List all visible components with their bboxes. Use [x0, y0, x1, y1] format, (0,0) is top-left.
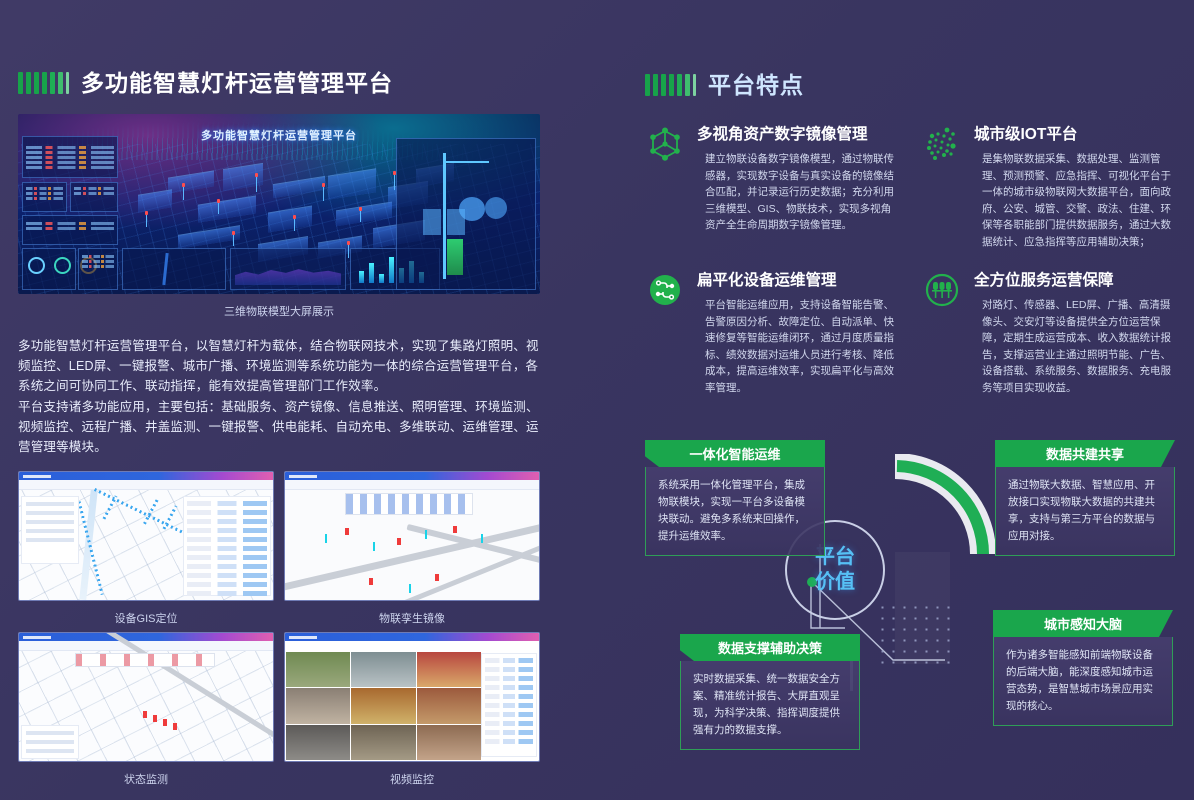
alarm-pin	[453, 526, 457, 533]
video-tile[interactable]	[286, 725, 350, 760]
hero-caption: 三维物联模型大屏展示	[18, 303, 540, 319]
app-subbar	[19, 480, 273, 490]
bars-decor-icon	[18, 68, 69, 94]
status-monitor-screenshot[interactable]	[18, 632, 274, 762]
app-subbar	[19, 641, 273, 651]
app-header-bar	[19, 633, 273, 641]
screenshot-row-top: 设备GIS定位	[18, 471, 540, 626]
feature-text: 建立物联设备数字镜像模型，通过物联传感器，实现数字设备与真实设备的镜像结合匹配，…	[705, 151, 900, 234]
value-card-text: 通过物联大数据、智慧应用、开放接口实现物联大数据的共建共享，支持与第三方平台的数…	[995, 467, 1175, 556]
video-tile[interactable]	[351, 725, 415, 760]
screenshot-item: 设备GIS定位	[18, 471, 274, 626]
pole-led-screen	[447, 209, 465, 235]
device-table[interactable]	[183, 496, 271, 596]
feature-text-wrap: 平台智能运维应用，支持设备智能告警、告警原因分析、故障定位、自动派单、快速修复等…	[697, 297, 900, 396]
value-card-title: 数据共建共享	[995, 440, 1175, 467]
right-column: 平台特点	[645, 66, 1177, 396]
app-header-bar	[285, 633, 539, 641]
lamp-pole-marker	[233, 234, 234, 246]
feature-body: 扁平化设备运维管理 平台智能运维应用，支持设备智能告警、告警原因分析、故障定位、…	[695, 268, 900, 396]
screenshot-caption: 视频监控	[284, 771, 540, 787]
alarm-pin	[345, 528, 349, 535]
camera-list-table[interactable]	[481, 653, 537, 757]
hero-kpi-rows	[26, 146, 114, 171]
value-card-decision-support[interactable]: 数据支撑辅助决策 实时数据采集、统一数据安全方案、精准统计报告、大屏直观呈现，为…	[680, 634, 860, 750]
value-card-title: 一体化智能运维	[645, 440, 825, 467]
status-filter-toolbar[interactable]	[75, 653, 215, 667]
value-card-title: 城市感知大脑	[993, 610, 1173, 637]
screenshot-item: 物联孪生镜像	[284, 471, 540, 626]
feature-item-flat-ops: 扁平化设备运维管理 平台智能运维应用，支持设备智能告警、告警原因分析、故障定位、…	[645, 268, 900, 396]
hero-minimap-route	[162, 253, 168, 285]
device-pin	[325, 534, 327, 543]
lamp-pole-marker	[183, 186, 184, 200]
hero-status-panel	[70, 182, 118, 212]
status-legend-panel	[21, 725, 79, 759]
video-tile[interactable]	[286, 652, 350, 687]
alarm-pin	[163, 719, 167, 726]
platform-value-diagram: 平台 价值 一体化智能运维 系统采用一体化管理平台，集成物联模块，实现一平台多设…	[645, 432, 1185, 792]
value-card-text: 作为诸多智能感知前端物联设备的后端大脑，能深度感知城市运营态势，是智慧城市场景应…	[993, 637, 1173, 726]
poster-page: 多功能智慧灯杆运营管理平台	[0, 0, 1194, 800]
hero-image-title: 多功能智慧灯杆运营管理平台	[201, 127, 357, 143]
left-section-header: 多功能智慧灯杆运营管理平台	[18, 64, 540, 98]
right-section-header: 平台特点	[645, 66, 1177, 100]
hero-area-chart	[230, 248, 346, 290]
feature-text: 平台智能运维应用，支持设备智能告警、告警原因分析、故障定位、自动派单、快速修复等…	[705, 297, 900, 396]
screenshot-caption: 状态监测	[18, 771, 274, 787]
alarm-pin	[153, 715, 157, 722]
value-card-integrated-ops[interactable]: 一体化智能运维 系统采用一体化管理平台，集成物联模块，实现一平台多设备模块联动。…	[645, 440, 825, 556]
video-tile[interactable]	[417, 688, 481, 723]
video-tile[interactable]	[417, 652, 481, 687]
video-surveillance-screenshot[interactable]	[284, 632, 540, 762]
intro-paragraph-1: 多功能智慧灯杆运营管理平台，以智慧灯杆为载体，结合物联网技术，实现了集路灯照明、…	[18, 336, 540, 396]
value-card-city-brain[interactable]: 城市感知大脑 作为诸多智能感知前端物联设备的后端大脑，能深度感知城市运营态势，是…	[993, 610, 1173, 726]
pole-led-screen	[423, 209, 441, 235]
alarm-pin	[435, 574, 439, 581]
circuit-globe-icon	[645, 270, 685, 310]
hero-gauge-panel	[22, 248, 76, 290]
value-card-data-sharing[interactable]: 数据共建共享 通过物联大数据、智慧应用、开放接口实现物联大数据的共建共享，支持与…	[995, 440, 1175, 556]
feature-title: 扁平化设备运维管理	[697, 268, 900, 290]
feature-body: 城市级IOT平台 是集物联数据采集、数据处理、监测管理、预测预警、应急指挥、可视…	[972, 122, 1177, 250]
screenshot-item: 视频监控	[284, 632, 540, 787]
cube-node-icon	[645, 124, 685, 164]
device-pin	[425, 530, 427, 539]
alarm-pin	[397, 538, 401, 545]
value-card-title: 数据支撑辅助决策	[680, 634, 860, 661]
lamp-pole-marker	[256, 176, 257, 192]
device-pin	[481, 534, 483, 543]
hero-device-panel	[22, 215, 118, 245]
feature-text: 是集物联数据采集、数据处理、监测管理、预测预警、应急指挥、可视化平台于一体的城市…	[982, 151, 1177, 250]
hero-broadcast-panel	[78, 248, 118, 290]
hero-area-series	[235, 263, 341, 285]
feature-item-service-guarantee: 全方位服务运营保障 对路灯、传感器、LED屏、广播、高清摄像头、交安灯等设备提供…	[922, 268, 1177, 396]
feature-text-wrap: 建立物联设备数字镜像模型，通过物联传感器，实现数字设备与真实设备的镜像结合匹配，…	[697, 151, 900, 234]
value-card-text: 系统采用一体化管理平台，集成物联模块，实现一平台多设备模块联动。避免多系统来回操…	[645, 467, 825, 556]
filter-sidepanel[interactable]	[21, 496, 79, 564]
alarm-pin	[143, 711, 147, 718]
feature-text: 对路灯、传感器、LED屏、广播、高清摄像头、交安灯等设备提供全方位运营保障，定期…	[982, 297, 1177, 396]
hero-device-rows	[26, 222, 114, 232]
lamp-pole-marker	[218, 202, 219, 214]
feature-text-wrap: 对路灯、传感器、LED屏、广播、高清摄像头、交安灯等设备提供全方位运营保障，定期…	[974, 297, 1177, 396]
feature-grid: 多视角资产数字镜像管理 建立物联设备数字镜像模型，通过物联传感器，实现数字设备与…	[645, 122, 1177, 396]
pole-mast	[443, 153, 446, 279]
screenshot-caption: 设备GIS定位	[18, 610, 274, 626]
alarm-pin	[173, 723, 177, 730]
video-tile[interactable]	[351, 652, 415, 687]
model-toolbar[interactable]	[345, 493, 473, 515]
video-wall-grid[interactable]	[286, 652, 481, 760]
hero-pole-model-panel	[396, 138, 536, 290]
lamp-pole-marker	[146, 214, 147, 227]
hero-minimap-panel	[122, 248, 226, 290]
value-card-text: 实时数据采集、统一数据安全方案、精准统计报告、大屏直观呈现，为科学决策、指挥调度…	[680, 661, 860, 750]
hero-broadcast-rows	[82, 255, 114, 270]
pole-cabinet	[447, 239, 463, 275]
gis-map-screenshot[interactable]	[18, 471, 274, 601]
app-header-bar	[285, 472, 539, 480]
digital-twin-screenshot[interactable]	[284, 471, 540, 601]
feature-item-digital-mirror: 多视角资产数字镜像管理 建立物联设备数字镜像模型，通过物联传感器，实现数字设备与…	[645, 122, 900, 250]
device-pin	[409, 584, 411, 593]
feature-title: 全方位服务运营保障	[974, 268, 1177, 290]
page-title: 多功能智慧灯杆运营管理平台	[81, 64, 393, 98]
intro-paragraph-2: 平台支持诸多功能应用，主要包括：基础服务、资产镜像、信息推送、照明管理、环境监测…	[18, 397, 540, 457]
dot-pattern-decor	[877, 602, 955, 666]
app-header-bar	[19, 472, 273, 480]
pole-antenna-dome	[485, 197, 507, 219]
lamp-pole-marker	[348, 244, 349, 258]
feature-body: 全方位服务运营保障 对路灯、传感器、LED屏、广播、高清摄像头、交安灯等设备提供…	[972, 268, 1177, 396]
video-tile[interactable]	[351, 688, 415, 723]
center-line-2: 价值	[815, 570, 855, 595]
screenshot-caption: 物联孪生镜像	[284, 610, 540, 626]
hero-kpi-panel-title	[23, 139, 117, 143]
features-title: 平台特点	[708, 66, 804, 100]
alarm-pin	[369, 578, 373, 585]
hero-legend-panel	[22, 182, 67, 212]
left-column: 多功能智慧灯杆运营管理平台	[18, 64, 540, 787]
feature-body: 多视角资产数字镜像管理 建立物联设备数字镜像模型，通过物联传感器，实现数字设备与…	[695, 122, 900, 250]
iot-network-icon	[922, 124, 962, 164]
lamp-pole-marker	[294, 218, 295, 231]
bars-decor-icon	[645, 70, 696, 96]
app-subbar	[285, 480, 539, 490]
hero-kpi-panel	[22, 136, 118, 178]
screenshot-gallery: 设备GIS定位	[18, 471, 540, 787]
feature-title: 多视角资产数字镜像管理	[697, 122, 900, 144]
device-pin	[373, 542, 375, 551]
feature-item-city-iot: 城市级IOT平台 是集物联数据采集、数据处理、监测管理、预测预警、应急指挥、可视…	[922, 122, 1177, 250]
feature-title: 城市级IOT平台	[974, 122, 1177, 144]
service-pillars-icon	[922, 270, 962, 310]
dashboard-hero-image: 多功能智慧灯杆运营管理平台	[18, 114, 540, 294]
feature-text-wrap: 是集物联数据采集、数据处理、监测管理、预测预警、应急指挥、可视化平台于一体的城市…	[974, 151, 1177, 250]
video-tile[interactable]	[286, 688, 350, 723]
screenshot-item: 状态监测	[18, 632, 274, 787]
video-tile[interactable]	[417, 725, 481, 760]
screenshot-row-bottom: 状态监测	[18, 632, 540, 787]
hero-status-rows	[74, 187, 114, 197]
lamp-pole-marker	[394, 174, 395, 190]
pole-arm	[443, 161, 489, 163]
intro-paragraphs: 多功能智慧灯杆运营管理平台，以智慧灯杆为载体，结合物联网技术，实现了集路灯照明、…	[18, 336, 540, 457]
hero-legend-rows	[26, 187, 63, 202]
